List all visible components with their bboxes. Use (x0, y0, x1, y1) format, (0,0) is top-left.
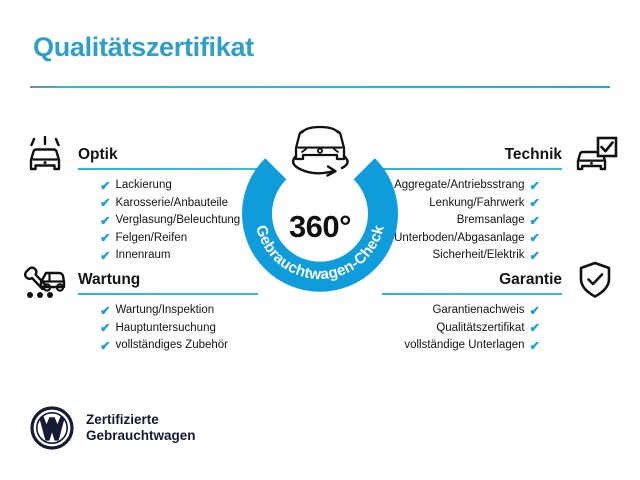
check-icon: ✔ (100, 215, 110, 228)
list-item: Qualitätszertifikat✔ (404, 320, 540, 338)
list-item-label: Aggregate/Antriebsstrang (394, 177, 524, 195)
list-item-label: Unterboden/Abgasanlage (394, 230, 524, 248)
section-header: Wartung (22, 261, 236, 295)
car-front-rotate-icon (282, 118, 358, 180)
check-icon: ✔ (530, 197, 540, 210)
section-divider (382, 293, 562, 295)
list-item-label: Garantienachweis (432, 302, 524, 320)
check-icon: ✔ (530, 305, 540, 318)
check-icon: ✔ (100, 180, 110, 193)
list-item-label: Karosserie/Anbauteile (115, 195, 228, 213)
section-header: Garantie (404, 261, 618, 295)
footer-brand: Zertifizierte Gebrauchtwagen (30, 406, 196, 450)
section-title: Optik (78, 146, 118, 164)
list-item-label: Wartung/Inspektion (115, 302, 214, 320)
checklist: Aggregate/Antriebsstrang✔ Lenkung/Fahrwe… (404, 177, 540, 265)
check-icon: ✔ (100, 232, 110, 245)
check-icon: ✔ (530, 232, 540, 245)
section-technik: Technik Aggregate/Antriebsstrang✔ Lenkun… (404, 136, 618, 281)
check-icon: ✔ (530, 215, 540, 228)
section-divider (78, 168, 258, 170)
check-icon: ✔ (100, 197, 110, 210)
car-shine-icon (22, 136, 68, 174)
certificate-page: Qualitätszertifikat Optik ✔Lac (0, 0, 640, 480)
list-item: Garantienachweis✔ (404, 302, 540, 320)
list-item-label: vollständiges Zubehör (115, 337, 228, 355)
list-item-label: Lenkung/Fahrwerk (429, 195, 524, 213)
footer-line-2: Gebrauchtwagen (86, 428, 196, 444)
list-item: ✔Hauptuntersuchung (100, 320, 236, 338)
list-item: Lenkung/Fahrwerk✔ (404, 195, 540, 213)
section-wartung: Wartung ✔Wartung/Inspektion ✔Hauptunters… (22, 261, 236, 371)
check-icon: ✔ (530, 180, 540, 193)
header-divider (30, 86, 610, 88)
list-item: ✔Wartung/Inspektion (100, 302, 236, 320)
section-header: Technik (404, 136, 618, 170)
list-item: Unterboden/Abgasanlage✔ (404, 230, 540, 248)
checklist: Garantienachweis✔ Qualitätszertifikat✔ v… (404, 302, 540, 355)
list-item: ✔Verglasung/Beleuchtung (100, 212, 236, 230)
list-item-label: Bremsanlage (457, 212, 525, 230)
page-title: Qualitätszertifikat (33, 32, 254, 63)
section-divider (78, 293, 258, 295)
check-icon: ✔ (530, 322, 540, 335)
section-header: Optik (22, 136, 236, 170)
list-item: ✔Lackierung (100, 177, 236, 195)
check-icon: ✔ (100, 340, 110, 353)
list-item-label: Hauptuntersuchung (115, 320, 215, 338)
list-item: Aggregate/Antriebsstrang✔ (404, 177, 540, 195)
list-item-label: Verglasung/Beleuchtung (115, 212, 240, 230)
list-item-label: Qualitätszertifikat (436, 320, 524, 338)
list-item-label: Lackierung (115, 177, 171, 195)
section-title: Garantie (499, 271, 562, 289)
checklist: ✔Wartung/Inspektion ✔Hauptuntersuchung ✔… (100, 302, 236, 355)
checklist: ✔Lackierung ✔Karosserie/Anbauteile ✔Verg… (100, 177, 236, 265)
check-icon: ✔ (100, 322, 110, 335)
badge-degrees: 360° (237, 209, 403, 245)
section-garantie: Garantie Garantienachweis✔ Qualitätszert… (404, 261, 618, 371)
vw-logo-icon (30, 406, 74, 450)
car-checkbox-icon (572, 136, 618, 174)
list-item: ✔Karosserie/Anbauteile (100, 195, 236, 213)
list-item: ✔Felgen/Reifen (100, 230, 236, 248)
list-item: vollständige Unterlagen✔ (404, 337, 540, 355)
section-optik: Optik ✔Lackierung ✔Karosserie/Anbauteile… (22, 136, 236, 281)
shield-check-icon (572, 261, 618, 299)
list-item-label: Felgen/Reifen (115, 230, 187, 248)
footer-text: Zertifizierte Gebrauchtwagen (86, 412, 196, 444)
footer-line-1: Zertifizierte (86, 412, 196, 428)
section-title: Technik (505, 146, 562, 164)
section-title: Wartung (78, 271, 140, 289)
section-divider (382, 168, 562, 170)
list-item: Bremsanlage✔ (404, 212, 540, 230)
check-icon: ✔ (100, 305, 110, 318)
check-icon: ✔ (530, 340, 540, 353)
badge-360-gebrauchtwagen-check: Gebrauchtwagen-Check 360° (237, 131, 403, 297)
list-item: ✔vollständiges Zubehör (100, 337, 236, 355)
list-item-label: vollständige Unterlagen (404, 337, 524, 355)
car-service-wrench-icon (22, 261, 68, 299)
